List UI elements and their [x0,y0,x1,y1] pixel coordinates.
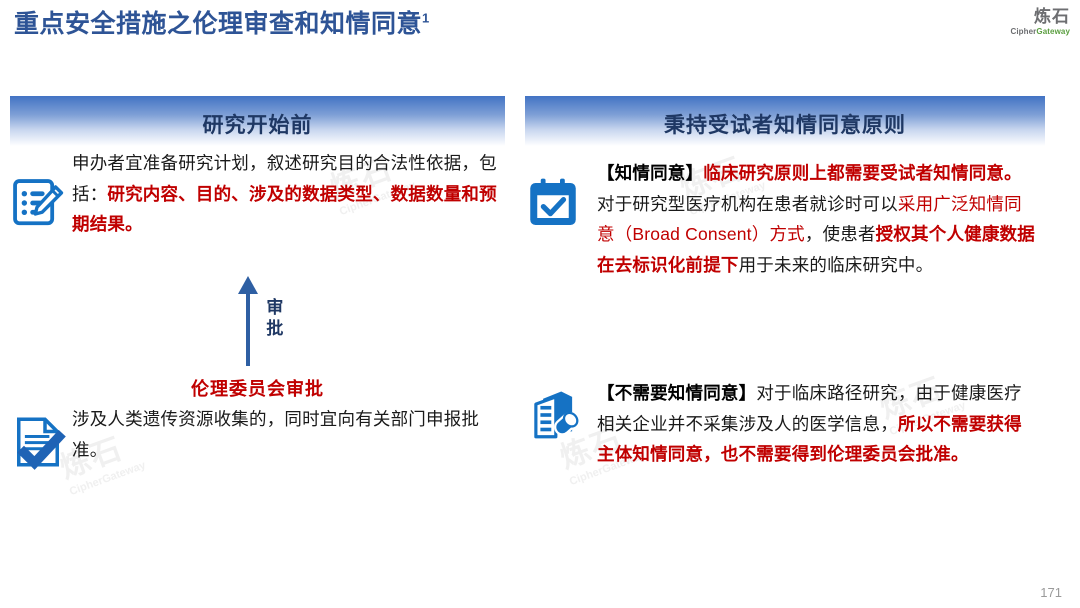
right-block-1-text: 【知情同意】临床研究原则上都需要受试者知情同意。对于研究型医疗机构在患者就诊时可… [597,158,1045,281]
left-block-1-text: 申办者宜准备研究计划，叙述研究目的合法性依据，包括：研究内容、目的、涉及的数据类… [72,148,505,240]
left-panel-header: 研究开始前 [10,96,505,146]
clipboard-pencil-icon [10,148,72,235]
left-block-2: 涉及人类遗传资源收集的，同时宜向有关部门申报批准。 [10,404,505,475]
text-segment-highlight: 临床研究原则上都需要受试者知情同意。 [703,163,1022,183]
left-panel: 研究开始前 申办者宜准备研究计划，叙述研究目的合法性依据，包括：研究内容、目 [10,96,505,146]
slide-root: 炼石CipherGateway 炼石CipherGateway 炼石Cipher… [0,0,1080,608]
arrow-line [246,292,250,366]
left-block-1: 申办者宜准备研究计划，叙述研究目的合法性依据，包括：研究内容、目的、涉及的数据类… [10,148,505,240]
logo-english-text: CipherGateway [1010,28,1070,36]
right-block-1: 【知情同意】临床研究原则上都需要受试者知情同意。对于研究型医疗机构在患者就诊时可… [525,158,1045,281]
page-number: 171 [1040,585,1062,600]
text-segment: ，使患者 [805,224,876,244]
page-title-text: 重点安全措施之伦理审查和知情同意 [14,10,422,38]
logo-chinese-text: 炼石 [1010,8,1070,25]
logo-english-part1: Cipher [1010,27,1036,36]
text-segment-highlight: 研究内容、目的、涉及的数据类型、数据数量和预期结果。 [72,184,497,235]
right-panel-header: 秉持受试者知情同意原则 [525,96,1045,146]
text-segment: 涉及人类遗传资源收集的，同时宜向有关部门申报批准。 [72,409,479,460]
right-panel: 秉持受试者知情同意原则 【知情同意】临床研究原则上都需要受试者知情同意。对于研究… [525,96,1045,146]
left-panel-header-title: 研究开始前 [203,109,313,139]
approval-arrow-block: 审批 伦理委员会审批 [10,276,505,401]
brand-logo: 炼石 CipherGateway [1010,8,1070,36]
arrow-caption: 伦理委员会审批 [10,375,505,401]
up-arrow-icon: 审批 [158,276,358,366]
calendar-check-icon [525,158,597,237]
text-segment-label: 【不需要知情同意】 [597,383,756,403]
text-segment: 用于未来的临床研究中。 [739,255,934,275]
right-block-2-text: 【不需要知情同意】对于临床路径研究，由于健康医疗相关企业并不采集涉及人的医学信息… [597,378,1045,470]
page-title: 重点安全措施之伦理审查和知情同意1 [14,4,430,40]
right-panel-header-title: 秉持受试者知情同意原则 [664,109,906,139]
left-block-2-text: 涉及人类遗传资源收集的，同时宜向有关部门申报批准。 [72,404,505,465]
hospital-pill-icon [525,378,597,449]
arrow-label: 审批 [264,298,282,340]
document-check-icon [10,404,72,475]
text-segment-label: 【知情同意】 [597,163,703,183]
right-block-2: 【不需要知情同意】对于临床路径研究，由于健康医疗相关企业并不采集涉及人的医学信息… [525,378,1045,470]
logo-english-part2: Gateway [1036,27,1070,36]
text-segment: 对于研究型医疗机构在患者就诊时可以 [597,194,898,214]
page-title-superscript: 1 [422,11,430,26]
